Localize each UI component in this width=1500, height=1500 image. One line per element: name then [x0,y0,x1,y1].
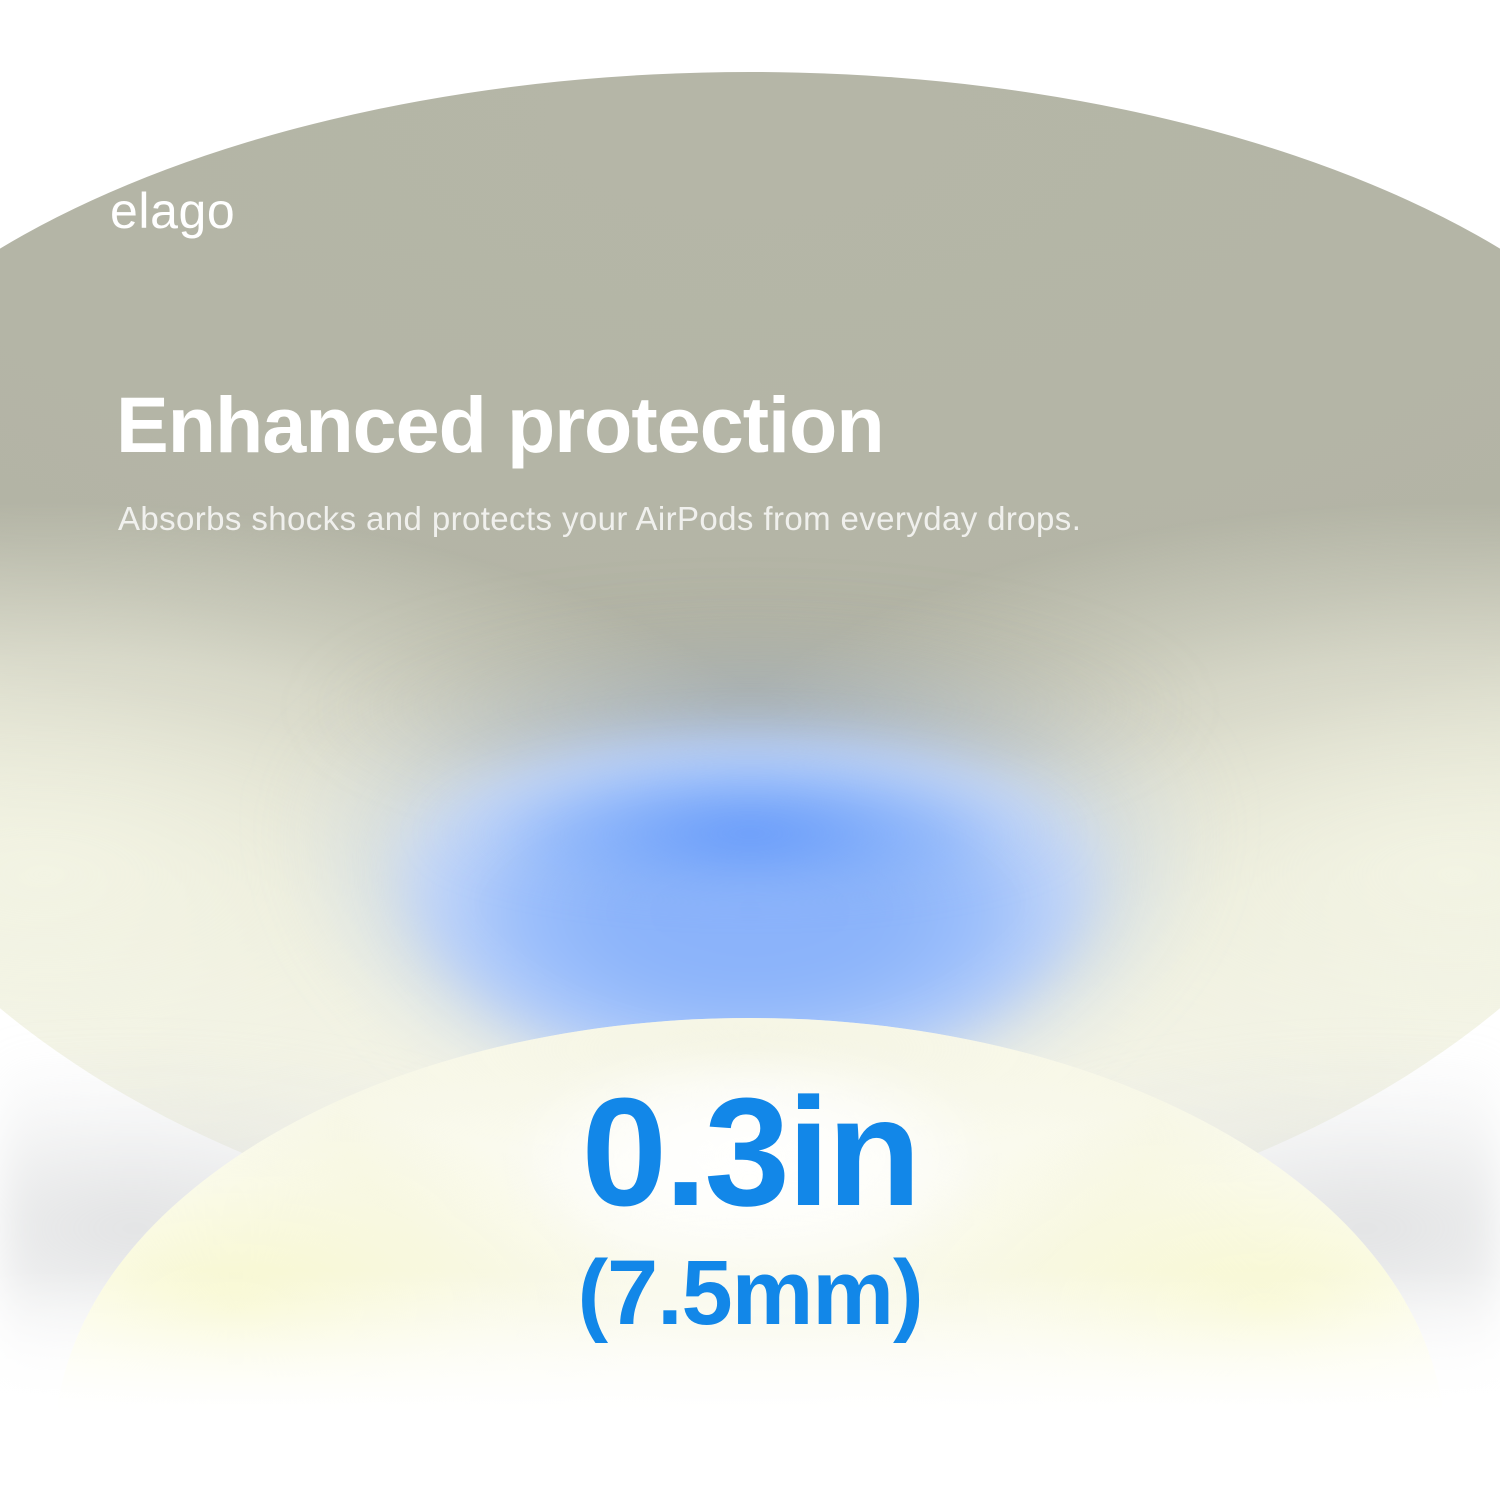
product-feature-panel: elago Enhanced protection Absorbs shocks… [0,0,1500,1500]
blue-glow-arc [330,668,1170,898]
page-subtitle: Absorbs shocks and protects your AirPods… [118,499,1081,539]
brand-logo: elago [110,186,235,236]
top-white-band [0,0,1500,72]
thickness-millimeters: (7.5mm) [0,1247,1500,1339]
thickness-callout: 0.3in (7.5mm) [0,1075,1500,1339]
thickness-inches: 0.3in [0,1075,1500,1229]
page-title: Enhanced protection [116,385,884,464]
